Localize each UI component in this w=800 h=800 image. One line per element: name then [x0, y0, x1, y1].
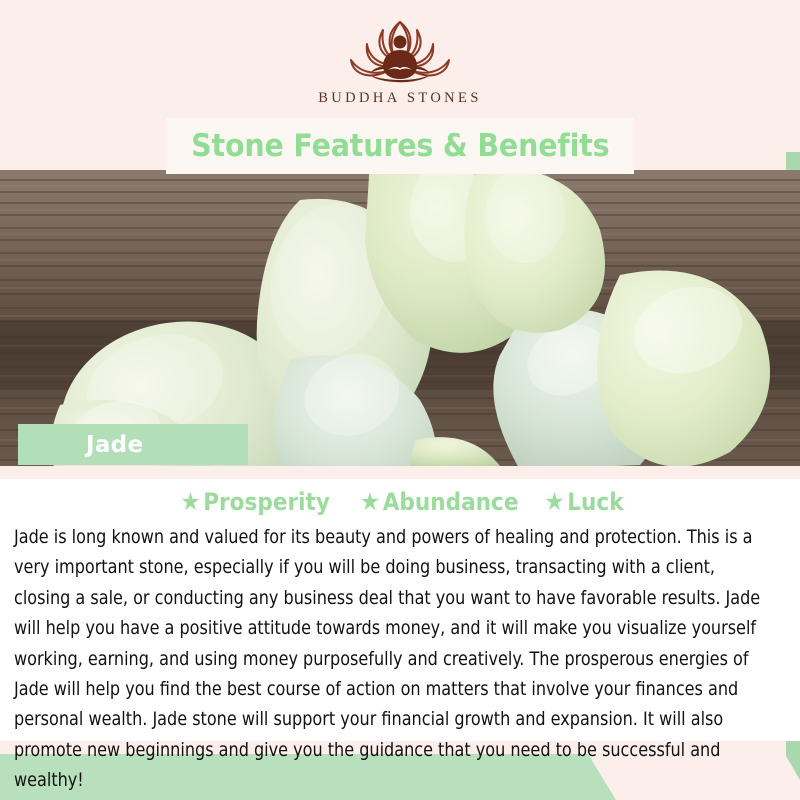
title-banner: Stone Features & Benefits	[166, 118, 634, 174]
star-icon: ★	[544, 487, 564, 516]
brand-logo: BUDDHA STONES	[0, 16, 800, 107]
stone-name-label: Jade	[86, 432, 143, 458]
stone-name-band: Jade	[18, 424, 248, 465]
brand-name: BUDDHA STONES	[0, 90, 800, 107]
keyword-label: Abundance	[383, 488, 519, 516]
content-section: ★Prosperity ★Abundance ★Luck Jade is lon…	[0, 466, 800, 800]
stone-photo-illustration	[0, 170, 800, 466]
stone-description: Jade is long known and valued for its be…	[14, 523, 761, 797]
keyword-list: ★Prosperity ★Abundance ★Luck	[0, 487, 800, 516]
stone-info-card: BUDDHA STONES Stone Features & Benefits …	[0, 0, 800, 800]
content-panel: ★Prosperity ★Abundance ★Luck Jade is lon…	[0, 479, 800, 741]
keyword-label: Prosperity	[203, 488, 330, 516]
keyword-item-1: ★Abundance	[360, 487, 519, 516]
pink-divider-strip	[0, 466, 800, 479]
stone-photo	[0, 170, 800, 466]
keyword-item-0: ★Prosperity	[181, 487, 331, 516]
star-icon: ★	[360, 487, 380, 516]
lotus-meditation-icon	[325, 16, 475, 88]
keyword-item-2: ★Luck	[544, 487, 623, 516]
keyword-label: Luck	[567, 488, 623, 516]
page-title: Stone Features & Benefits	[191, 128, 609, 164]
card-header: BUDDHA STONES	[0, 0, 800, 120]
star-icon: ★	[181, 487, 201, 516]
